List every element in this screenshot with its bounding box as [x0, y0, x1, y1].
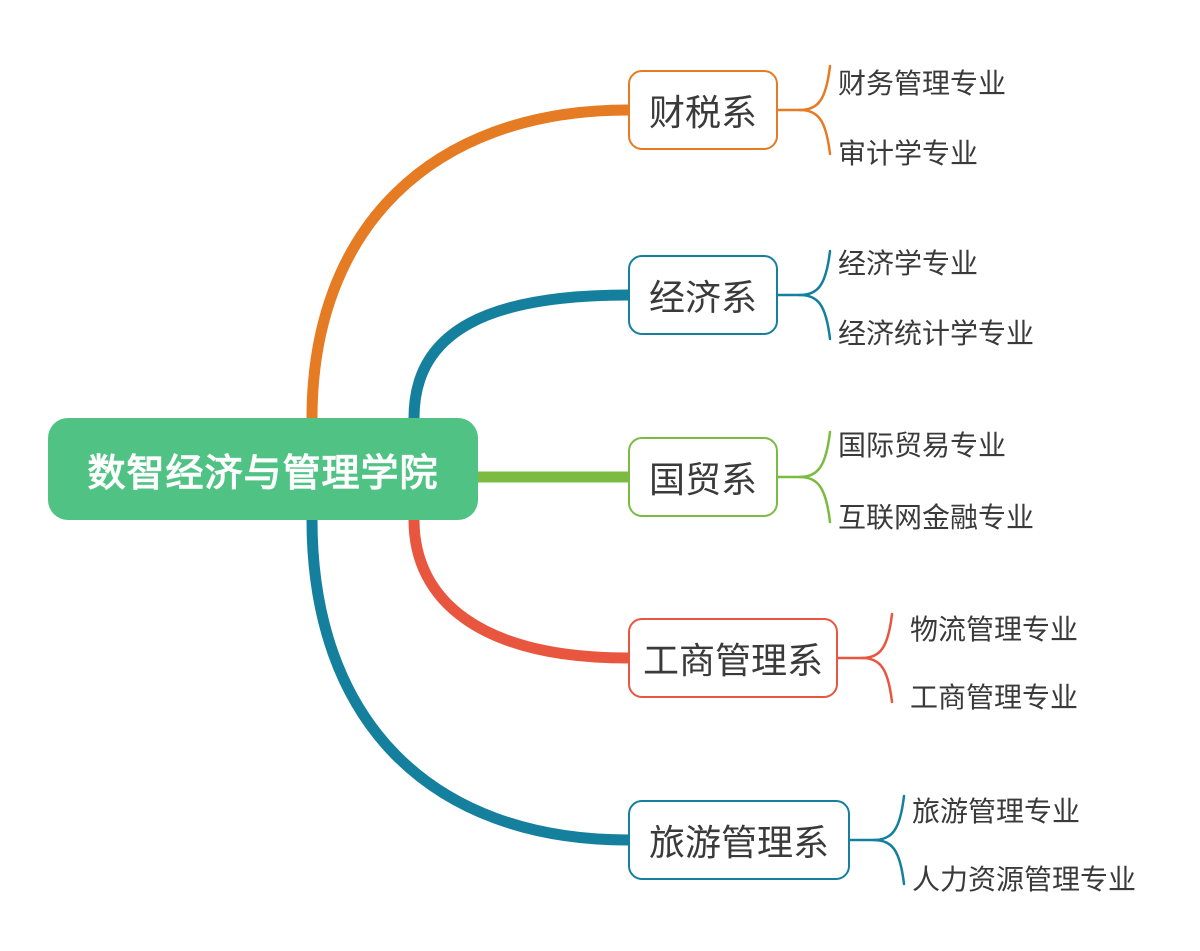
main-branch-curve-jingji [414, 295, 628, 418]
leaf-label-jingji-2[interactable]: 经济统计学专业 [838, 312, 1034, 352]
leaf-label-guomao-2[interactable]: 互联网金融专业 [838, 496, 1034, 536]
leaf-fork-guomao [778, 432, 830, 522]
branch-node-label: 国贸系 [649, 451, 757, 503]
branch-node-label: 工商管理系 [643, 632, 823, 684]
leaf-fork-lvyou [850, 796, 904, 884]
mindmap-canvas: 数智经济与管理学院 财税系 经济系 国贸系 工商管理系 旅游管理系 财务管理专业… [0, 0, 1200, 951]
main-branch-curve-caishui [312, 110, 628, 418]
leaf-label-lvyou-1[interactable]: 旅游管理专业 [912, 790, 1080, 830]
branch-node-lvyou[interactable]: 旅游管理系 [628, 800, 850, 880]
leaf-label-gongshang-1[interactable]: 物流管理专业 [910, 608, 1078, 648]
leaf-fork-gongshang [838, 614, 892, 702]
main-branch-curve-gongshang [414, 520, 628, 658]
branch-node-label: 经济系 [649, 269, 757, 321]
root-node-label: 数智经济与管理学院 [87, 442, 438, 497]
root-node[interactable]: 数智经济与管理学院 [48, 418, 478, 520]
leaf-label-gongshang-2[interactable]: 工商管理专业 [910, 676, 1078, 716]
branch-node-label: 财税系 [649, 84, 757, 136]
leaf-label-lvyou-2[interactable]: 人力资源管理专业 [912, 858, 1136, 898]
leaf-label-jingji-1[interactable]: 经济学专业 [838, 242, 978, 282]
branch-node-label: 旅游管理系 [649, 814, 829, 866]
leaf-fork-jingji [778, 251, 830, 339]
branch-node-gongshang[interactable]: 工商管理系 [628, 618, 838, 698]
branch-node-guomao[interactable]: 国贸系 [628, 437, 778, 517]
main-branch-curve-lvyou [312, 520, 628, 840]
leaf-label-caishui-1[interactable]: 财务管理专业 [838, 62, 1006, 102]
leaf-label-guomao-1[interactable]: 国际贸易专业 [838, 424, 1006, 464]
leaf-label-caishui-2[interactable]: 审计学专业 [838, 132, 978, 172]
leaf-fork-caishui [778, 66, 830, 154]
branch-node-jingji[interactable]: 经济系 [628, 255, 778, 335]
branch-node-caishui[interactable]: 财税系 [628, 70, 778, 150]
